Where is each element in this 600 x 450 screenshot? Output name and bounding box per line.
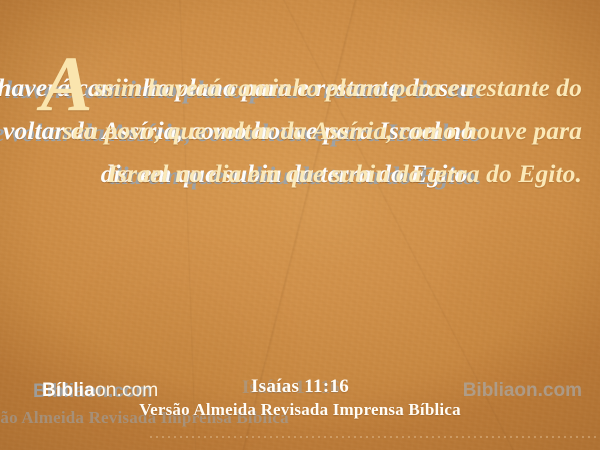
dotted-divider — [150, 436, 600, 438]
footer: Bíbliaon.com Bíbliaon.com Bibliaon.com I… — [0, 358, 600, 450]
verse-image-canvas: Assim haverá caminho plano para e restan… — [0, 0, 600, 450]
bible-version: Versão Almeida Revisada Imprensa Bíblica — [0, 400, 600, 420]
verse-reference: Isaías 11:16 — [0, 376, 600, 398]
